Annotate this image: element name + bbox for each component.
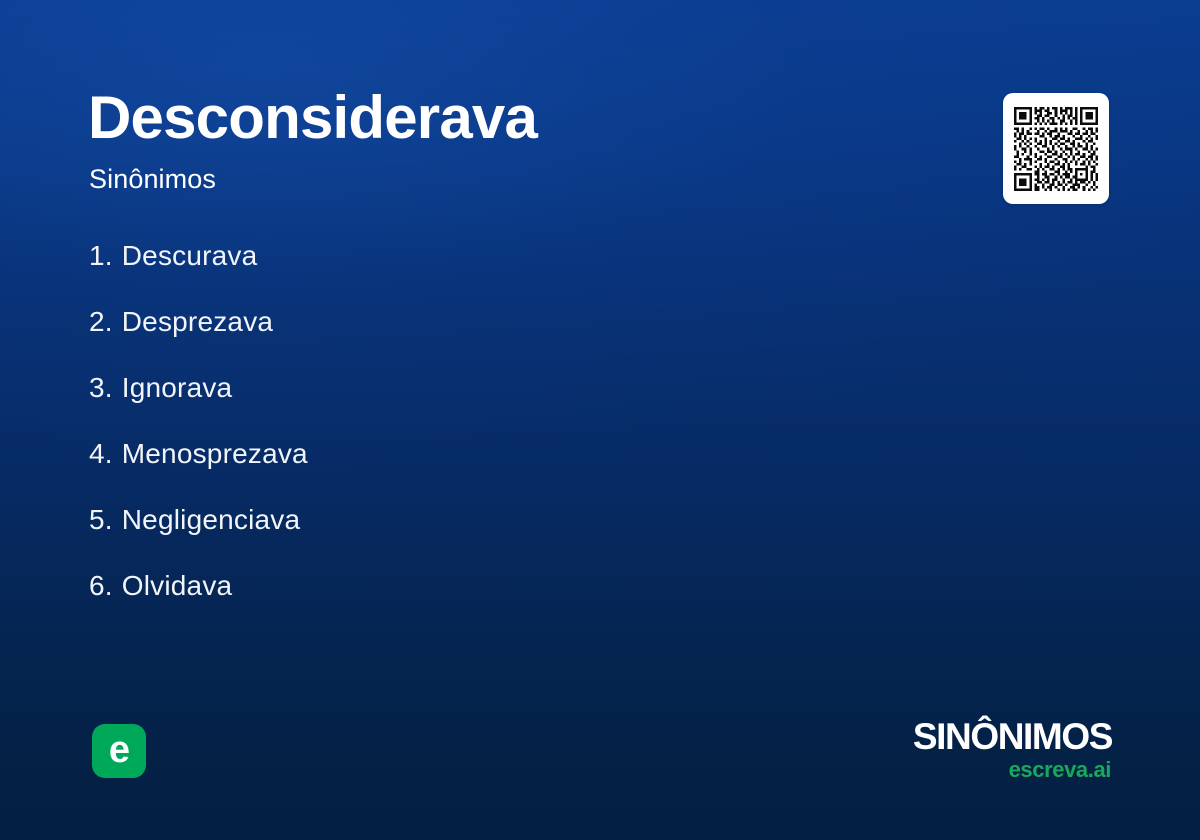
qr-code-icon: [1014, 107, 1098, 191]
list-item: 2. Desprezava: [89, 304, 849, 370]
list-item-index: 6.: [89, 568, 113, 604]
list-item-index: 2.: [89, 304, 113, 340]
list-item: 4. Menosprezava: [89, 436, 849, 502]
list-item-index: 5.: [89, 502, 113, 538]
brand-logo-main: SINÔNIMOS: [913, 718, 1112, 755]
qr-code-container[interactable]: [1003, 93, 1109, 204]
list-item-label: Olvidava: [122, 568, 233, 604]
list-item-index: 1.: [89, 238, 113, 274]
list-item-index: 4.: [89, 436, 113, 472]
list-item: 6. Olvidava: [89, 568, 849, 634]
brand-logo-sub: escreva.ai: [913, 759, 1111, 781]
list-item-label: Desprezava: [122, 304, 273, 340]
synonyms-list: 1. Descurava 2. Desprezava 3. Ignorava 4…: [89, 238, 849, 634]
escreva-e-logo-icon[interactable]: e: [92, 724, 146, 778]
list-item: 1. Descurava: [89, 238, 849, 304]
page-title: Desconsiderava: [88, 88, 537, 148]
brand-mark-letter: e: [109, 731, 129, 769]
list-item-label: Descurava: [122, 238, 258, 274]
list-item-label: Ignorava: [122, 370, 233, 406]
list-item-label: Negligenciava: [122, 502, 301, 538]
list-item-label: Menosprezava: [122, 436, 308, 472]
brand-logo[interactable]: SINÔNIMOS escreva.ai: [913, 718, 1112, 781]
page-subtitle: Sinônimos: [89, 166, 216, 193]
list-item: 5. Negligenciava: [89, 502, 849, 568]
list-item: 3. Ignorava: [89, 370, 849, 436]
list-item-index: 3.: [89, 370, 113, 406]
synonym-card: Desconsiderava Sinônimos: [0, 0, 1200, 840]
